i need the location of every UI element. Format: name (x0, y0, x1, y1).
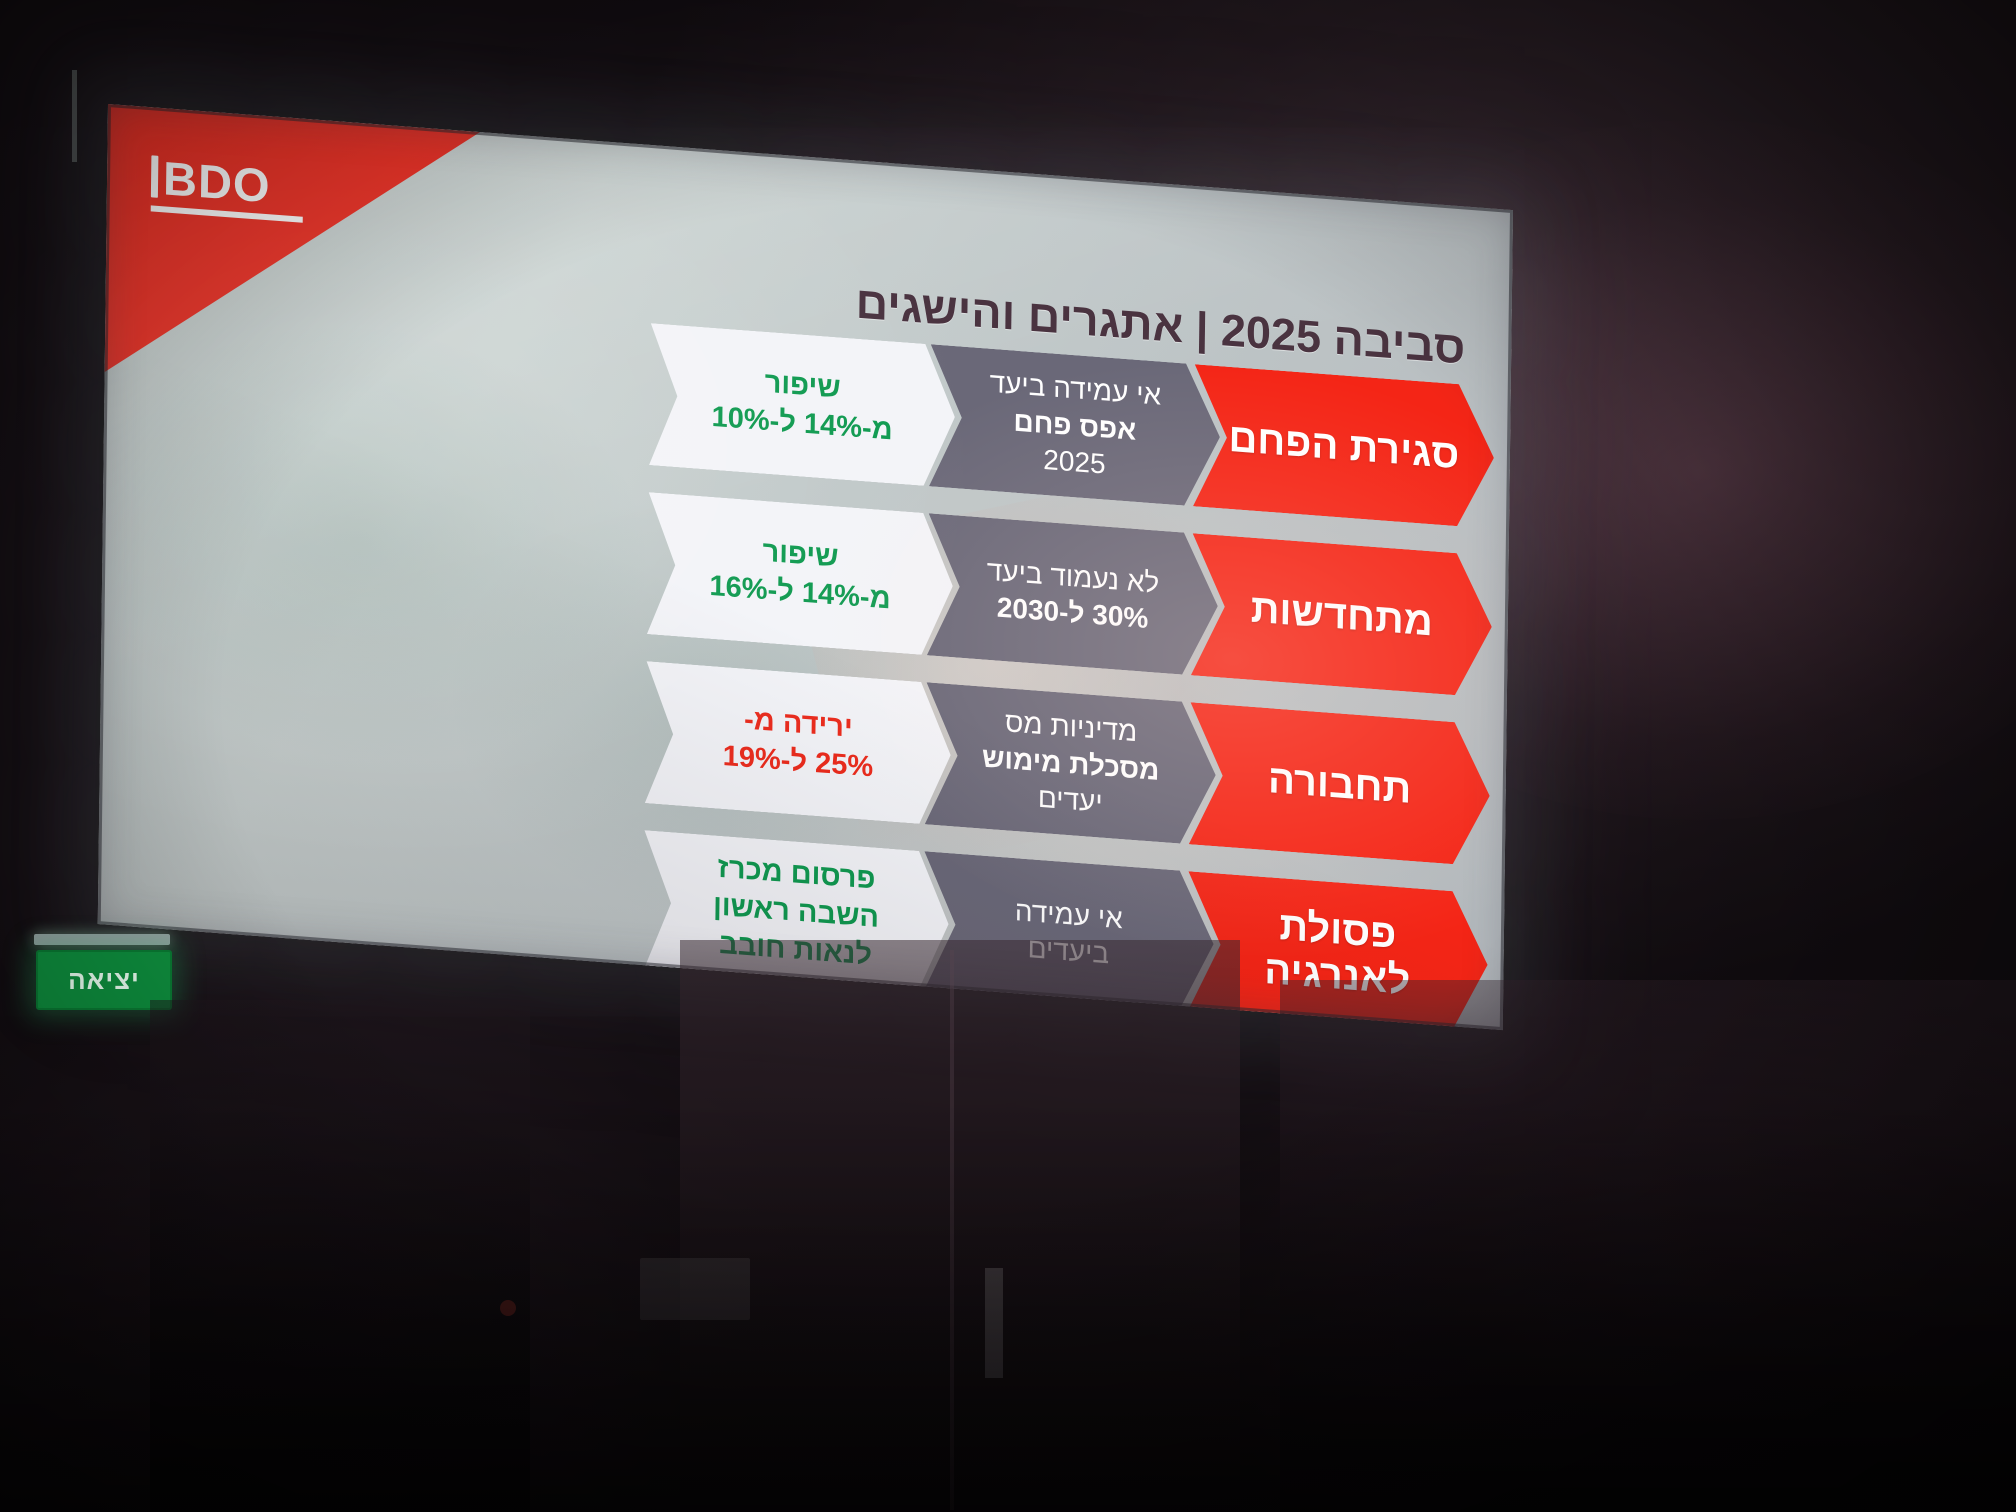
category-label: סגירת הפחם (1228, 415, 1459, 477)
outcome-heading: שיפור (764, 365, 840, 408)
bdo-logo: BDO (151, 153, 304, 222)
outcome-chevron[interactable]: פרסום מכרז השבה ראשון לנאות חובב (643, 830, 950, 995)
issue-chevron[interactable]: אי עמידה ביעדים (923, 851, 1215, 1015)
room-photo: BDO סביבה 2025 | אתגרים והישגים סגירת הפ… (0, 0, 2016, 1512)
exit-sign-label: יציאה (68, 965, 140, 996)
issue-chevron[interactable]: לא נעמוד ביעד 30% ל-2030 (927, 513, 1219, 677)
category-label: פסולת לאנרגיה (1213, 899, 1462, 1007)
category-chevron[interactable]: סגירת הפחם (1193, 364, 1495, 529)
logo-bar (151, 155, 159, 198)
outcome-chevron[interactable]: ירידה מ- 25% ל-19% (645, 661, 952, 826)
category-label: מתחדשות (1250, 586, 1433, 645)
rows-container: סגירת הפחם אי עמידה ביעד אפס פחם 2025 שי… (98, 282, 1511, 1030)
issue-chevron[interactable]: אי עמידה ביעד אפס פחם 2025 (929, 344, 1221, 508)
outcome-value: מ-14% ל-16% (709, 568, 891, 619)
issue-line-3: יעדים (1038, 780, 1103, 821)
issue-line-3: 2025 (1043, 442, 1106, 483)
category-chevron[interactable]: פסולת לאנרגיה (1187, 871, 1489, 1030)
issue-chevron[interactable]: מדיניות מס מסכלת מימוש יעדים (925, 682, 1217, 846)
outcome-value: מ-14% ל-10% (711, 399, 893, 450)
category-chevron[interactable]: תחבורה (1189, 702, 1491, 867)
exit-sign-bracket (34, 934, 170, 945)
exit-sign: יציאה (28, 934, 178, 1022)
outcome-chevron[interactable]: שיפור מ-14% ל-16% (647, 492, 954, 657)
category-label: תחבורה (1268, 757, 1412, 813)
outcome-chevron[interactable]: שיפור מ-14% ל-10% (649, 323, 956, 488)
category-chevron[interactable]: מתחדשות (1191, 533, 1493, 698)
logo-text: BDO (163, 151, 271, 212)
outcome-value: השבה ראשון לנאות חובב (671, 884, 921, 978)
issue-line-2: ביעדים (1027, 930, 1109, 973)
presentation-slide: BDO סביבה 2025 | אתגרים והישגים סגירת הפ… (98, 104, 1513, 1030)
exit-sign-box: יציאה (36, 950, 172, 1010)
outcome-heading: שיפור (762, 534, 838, 577)
projection-screen-area: BDO סביבה 2025 | אתגרים והישגים סגירת הפ… (0, 0, 2016, 1512)
